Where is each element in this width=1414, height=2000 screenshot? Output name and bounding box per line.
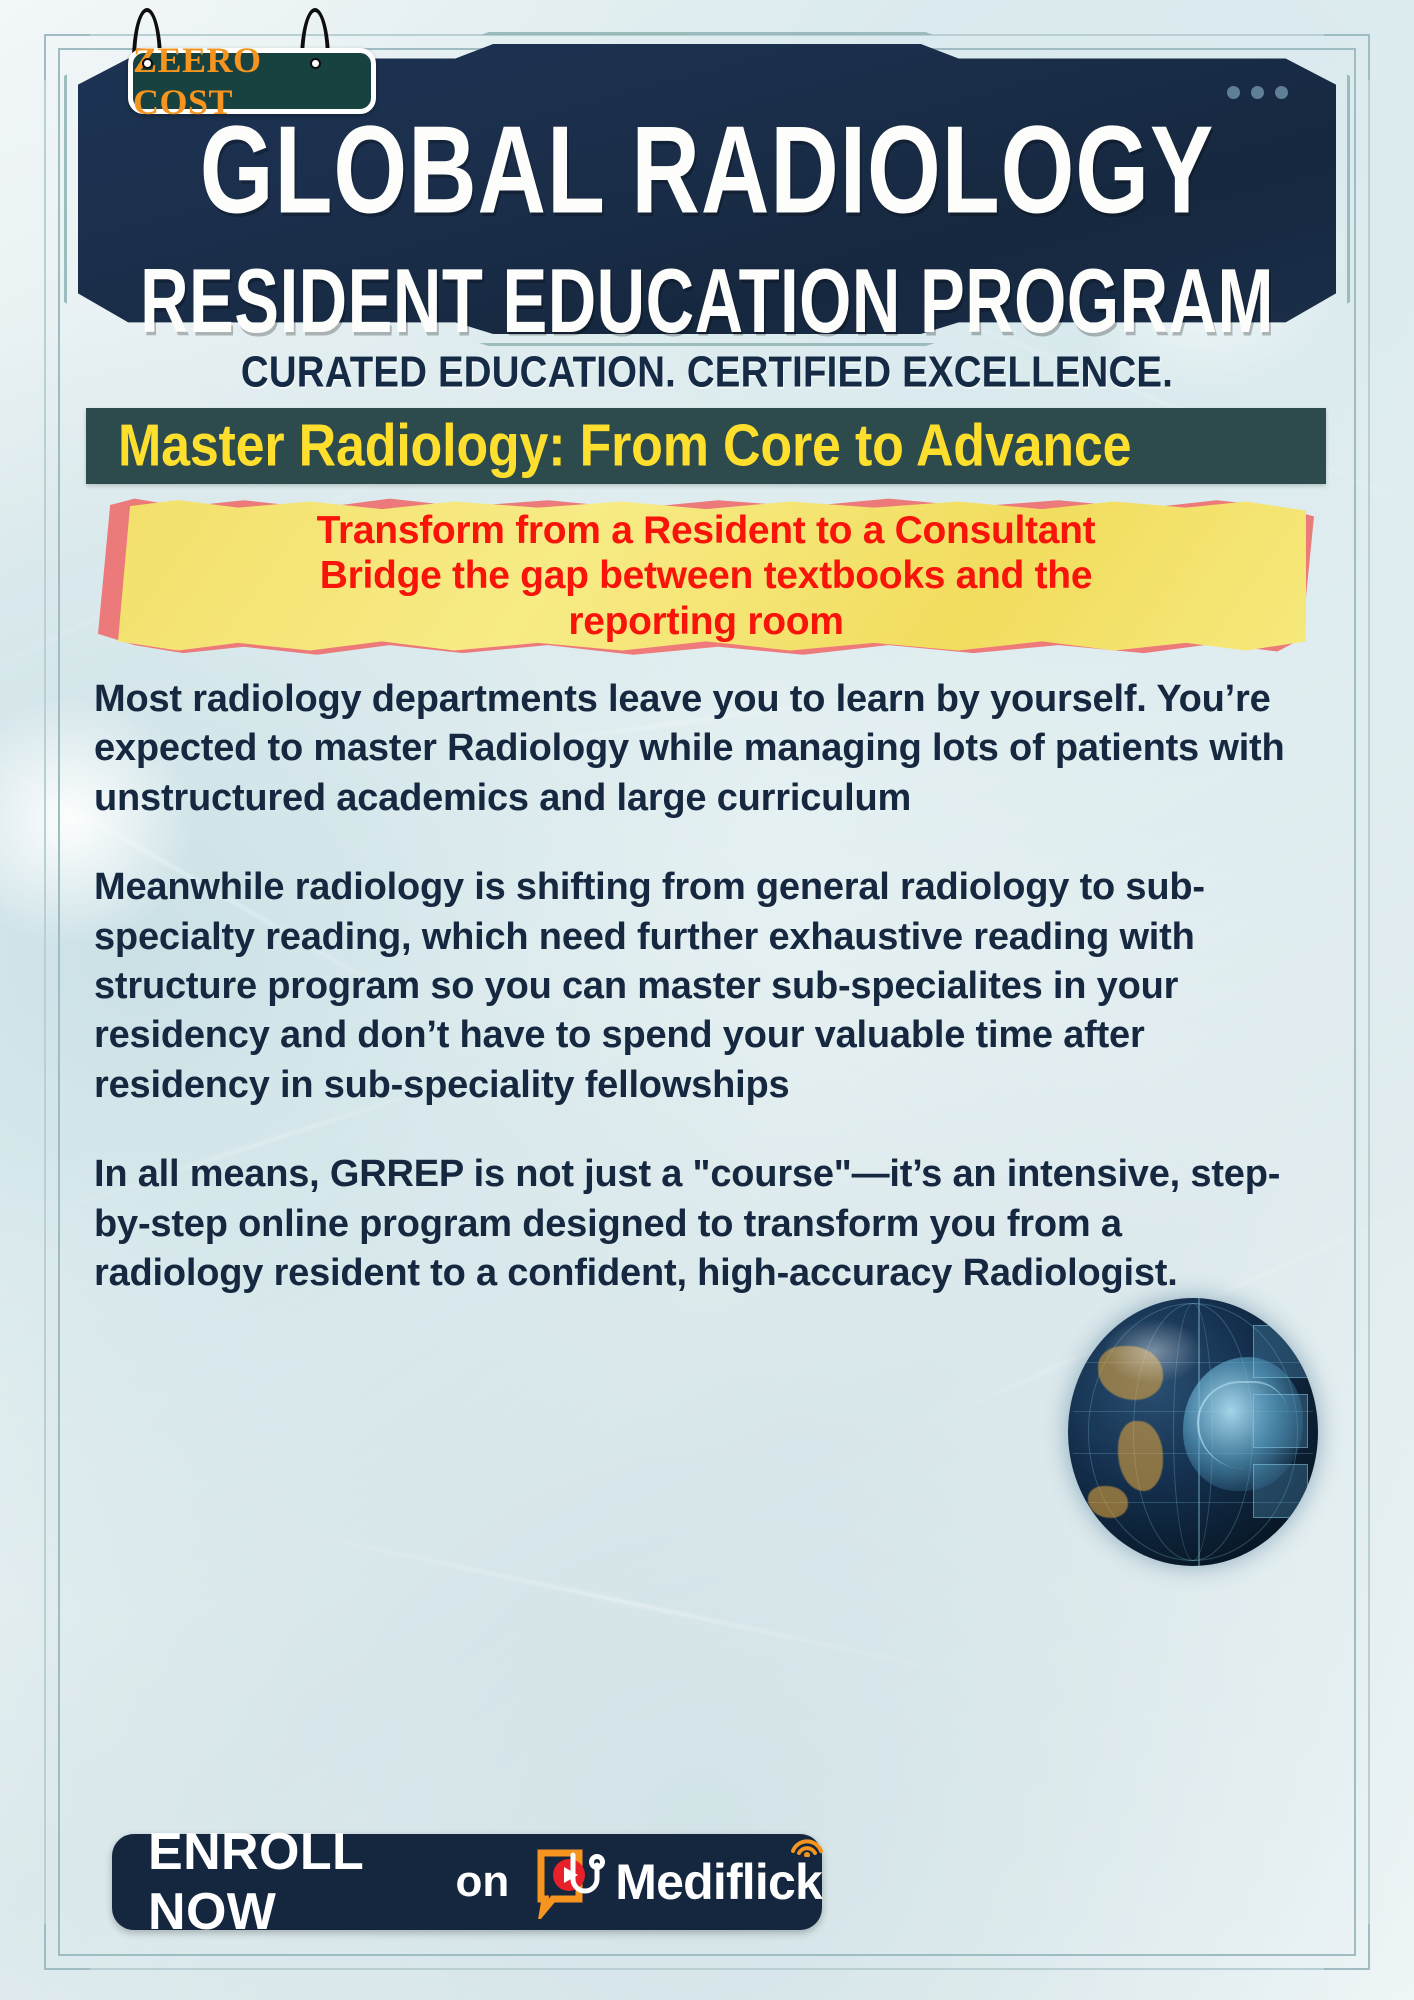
globe-glare xyxy=(1103,1319,1203,1383)
frame-corner-bottom-left xyxy=(44,1924,90,1970)
header-dots-decoration xyxy=(1227,86,1288,99)
eyelet-icon xyxy=(310,58,321,69)
scan-panel xyxy=(1253,1394,1308,1448)
highlight-line-1: Transform from a Resident to a Consultan… xyxy=(317,508,1096,554)
brand-text: Mediflick xyxy=(615,1854,822,1910)
highlight-callout: Transform from a Resident to a Consultan… xyxy=(106,500,1306,655)
poster-title-line1: GLOBAL RADIOLOGY xyxy=(122,111,1292,230)
highlight-line-3: reporting room xyxy=(568,599,843,645)
body-copy: Most radiology departments leave you to … xyxy=(94,675,1294,1298)
tagline: CURATED EDUCATION. CERTIFIED EXCELLENCE. xyxy=(28,348,1385,398)
body-paragraph-2: Meanwhile radiology is shifting from gen… xyxy=(94,863,1294,1110)
enroll-label: ENROLL NOW xyxy=(148,1822,437,1942)
enroll-on-label: on xyxy=(455,1857,509,1907)
mediflick-mark-icon xyxy=(533,1845,607,1919)
mediflick-logo: Mediflick xyxy=(533,1845,822,1919)
globe-brain-image xyxy=(1068,1298,1318,1566)
scan-panel xyxy=(1253,1464,1308,1518)
course-title-band: Master Radiology: From Core to Advance xyxy=(86,408,1326,484)
dot-icon xyxy=(1251,86,1264,99)
highlight-text-group: Transform from a Resident to a Consultan… xyxy=(106,500,1306,652)
badge-plate: ZEERO COST xyxy=(128,48,376,114)
body-paragraph-3: In all means, GRREP is not just a "cours… xyxy=(94,1150,1294,1298)
badge-label: ZEERO COST xyxy=(133,39,371,123)
zeero-cost-badge: ZEERO COST xyxy=(128,8,428,120)
course-title: Master Radiology: From Core to Advance xyxy=(118,412,1131,480)
body-paragraph-1: Most radiology departments leave you to … xyxy=(94,675,1294,823)
frame-corner-bottom-right xyxy=(1324,1924,1370,1970)
dot-icon xyxy=(1227,86,1240,99)
brand-name: Mediflick xyxy=(615,1853,822,1911)
wifi-signal-icon xyxy=(790,1831,824,1857)
dot-icon xyxy=(1275,86,1288,99)
poster-title-line2: RESIDENT EDUCATION PROGRAM xyxy=(128,250,1285,353)
enroll-now-button[interactable]: ENROLL NOW on Mediflick xyxy=(112,1834,822,1930)
globe-landmass xyxy=(1088,1486,1128,1518)
scan-panel xyxy=(1253,1325,1308,1379)
eyelet-icon xyxy=(142,58,153,69)
poster-canvas: GLOBAL RADIOLOGY RESIDENT EDUCATION PROG… xyxy=(0,0,1414,2000)
highlight-line-2: Bridge the gap between textbooks and the xyxy=(320,553,1092,599)
